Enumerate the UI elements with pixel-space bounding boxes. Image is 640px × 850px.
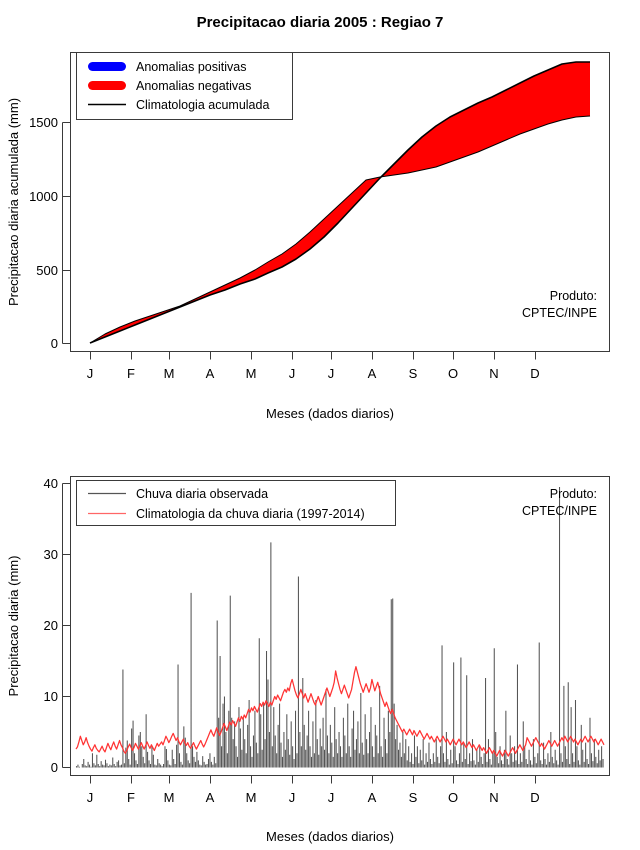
- observed-accumulated-line: [90, 116, 590, 343]
- x-axis-title-accumulated: Meses (dados diarios): [266, 406, 394, 421]
- y-axis-accumulated: [63, 123, 71, 344]
- x-tick-label: D: [530, 790, 539, 805]
- x-tick-label: M: [164, 366, 175, 381]
- x-tick-label: S: [409, 790, 418, 805]
- y-axis-title-daily: Precipitacao diaria (mm): [6, 556, 21, 697]
- y-tick-label: 20: [44, 618, 58, 633]
- legend-accumulated[interactable]: Anomalias positivas Anomalias negativas …: [77, 53, 293, 120]
- y-tick-label: 30: [44, 547, 58, 562]
- y-tick-label: 10: [44, 689, 58, 704]
- chart-daily: 40 30 20 10 0 Precipitacao diaria (mm): [6, 476, 610, 844]
- y-tick-label: 0: [51, 760, 58, 775]
- x-tick-label: J: [328, 790, 335, 805]
- y-tick-label: 1000: [29, 189, 58, 204]
- legend-label-positive-anomalies: Anomalias positivas: [136, 60, 246, 74]
- x-tick-label: A: [206, 790, 215, 805]
- produto-label-line2: CPTEC/INPE: [522, 504, 597, 518]
- y-tick-label: 0: [51, 336, 58, 351]
- produto-label-line1: Produto:: [550, 289, 597, 303]
- x-tick-label: A: [368, 790, 377, 805]
- y-axis-title-accumulated: Precipitacao diaria acumulada (mm): [6, 98, 21, 306]
- x-tick-label: A: [206, 366, 215, 381]
- x-tick-label: A: [368, 366, 377, 381]
- legend-label-daily-climatology: Climatologia da chuva diaria (1997-2014): [136, 507, 365, 521]
- legend-swatch-negative-anomalies: [88, 81, 126, 90]
- daily-climatology-line: [76, 667, 604, 756]
- x-tick-label: M: [164, 790, 175, 805]
- x-tick-label: F: [127, 790, 135, 805]
- x-tick-label: F: [127, 366, 135, 381]
- y-axis-daily: [63, 484, 71, 768]
- x-tick-label: J: [328, 366, 335, 381]
- x-tick-label: N: [489, 790, 498, 805]
- produto-label-line1: Produto:: [550, 487, 597, 501]
- y-tick-label: 1500: [29, 115, 58, 130]
- y-tick-label: 500: [36, 263, 58, 278]
- y-tick-labels-accumulated: 1500 1000 500 0: [29, 115, 58, 351]
- x-tick-label: S: [409, 366, 418, 381]
- precipitation-figure: Precipitacao diaria 2005 : Regiao 7 1500…: [0, 0, 640, 850]
- x-tick-label: O: [448, 366, 458, 381]
- x-tick-label: M: [246, 366, 257, 381]
- legend-label-observed-rain: Chuva diaria observada: [136, 487, 268, 501]
- x-axis-title-daily: Meses (dados diarios): [266, 829, 394, 844]
- x-axis-accumulated: [91, 352, 591, 360]
- legend-swatch-positive-anomalies: [88, 62, 126, 71]
- x-tick-label: M: [246, 790, 257, 805]
- chart-accumulated: 1500 1000 500 0 Precipitacao diaria acum…: [6, 53, 610, 422]
- x-tick-label: J: [87, 366, 94, 381]
- produto-credit-accumulated: Produto: CPTEC/INPE: [522, 289, 597, 320]
- daily-rain-bars: [77, 487, 604, 767]
- x-tick-label: J: [289, 790, 296, 805]
- produto-label-line2: CPTEC/INPE: [522, 306, 597, 320]
- x-tick-label: N: [489, 366, 498, 381]
- x-tick-labels-accumulated: J F M A M J J A S O N D: [87, 366, 540, 381]
- x-tick-label: J: [289, 366, 296, 381]
- x-tick-label: J: [87, 790, 94, 805]
- legend-daily[interactable]: Chuva diaria observada Climatologia da c…: [77, 481, 396, 526]
- x-tick-label: D: [530, 366, 539, 381]
- x-axis-daily: [91, 776, 591, 784]
- legend-label-climatology-accumulated: Climatologia acumulada: [136, 98, 269, 112]
- charts-canvas: 1500 1000 500 0 Precipitacao diaria acum…: [0, 0, 640, 850]
- y-tick-label: 40: [44, 476, 58, 491]
- legend-label-negative-anomalies: Anomalias negativas: [136, 79, 251, 93]
- y-tick-labels-daily: 40 30 20 10 0: [44, 476, 58, 775]
- x-tick-labels-daily: J F M A M J J A S O N D: [87, 790, 540, 805]
- x-tick-label: O: [448, 790, 458, 805]
